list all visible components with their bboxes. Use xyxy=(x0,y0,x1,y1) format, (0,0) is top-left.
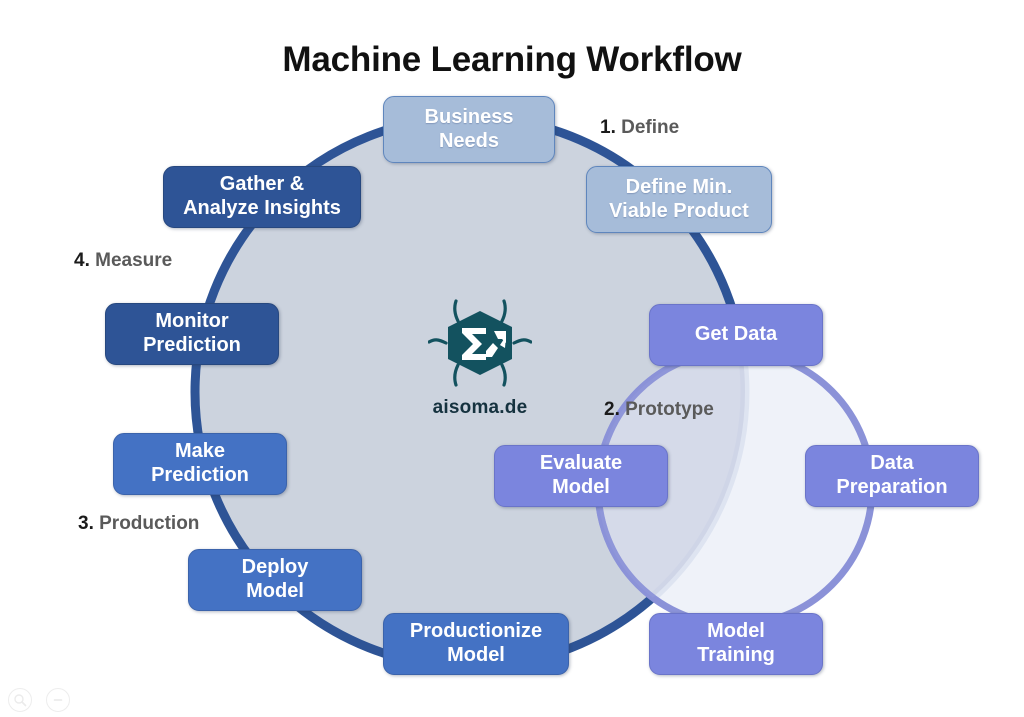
node-data-preparation[interactable]: Data Preparation xyxy=(805,445,979,507)
node-get-data[interactable]: Get Data xyxy=(649,304,823,366)
node-label: Model Training xyxy=(697,620,775,667)
node-monitor-prediction[interactable]: Monitor Prediction xyxy=(105,303,279,365)
stage-number: 4. xyxy=(74,250,90,271)
node-label: Evaluate Model xyxy=(540,452,622,499)
aisoma-logo: aisoma.de xyxy=(420,295,540,425)
node-label: Make Prediction xyxy=(151,440,249,487)
zoom-in-icon[interactable] xyxy=(8,688,32,712)
node-define-mvp[interactable]: Define Min. Viable Product xyxy=(586,166,772,233)
node-deploy-model[interactable]: Deploy Model xyxy=(188,549,362,611)
corner-tools xyxy=(8,688,70,712)
node-label: Gather & Analyze Insights xyxy=(183,173,341,220)
stage-name: Define xyxy=(616,117,679,138)
node-label: Monitor Prediction xyxy=(143,310,241,357)
stage-number: 3. xyxy=(78,513,94,534)
stage-number: 2. xyxy=(604,399,620,420)
stage-label-production: 3. Production xyxy=(78,513,199,535)
page-title: Machine Learning Workflow xyxy=(0,40,1024,80)
zoom-out-icon[interactable] xyxy=(46,688,70,712)
node-label: Business Needs xyxy=(425,106,514,153)
sigma-arrow-hexagon-icon xyxy=(428,295,532,391)
stage-name: Production xyxy=(94,513,200,534)
node-make-prediction[interactable]: Make Prediction xyxy=(113,433,287,495)
stage-number: 1. xyxy=(600,117,616,138)
diagram-canvas: Machine Learning Workflow aisoma.de 1. D… xyxy=(0,0,1024,717)
stage-name: Measure xyxy=(90,250,172,271)
node-productionize-model[interactable]: Productionize Model xyxy=(383,613,569,675)
stage-name: Prototype xyxy=(620,399,714,420)
stage-label-prototype: 2. Prototype xyxy=(604,399,714,421)
node-label: Deploy Model xyxy=(242,556,309,603)
node-business-needs[interactable]: Business Needs xyxy=(383,96,555,163)
node-label: Get Data xyxy=(695,323,777,347)
node-label: Productionize Model xyxy=(410,620,542,667)
node-evaluate-model[interactable]: Evaluate Model xyxy=(494,445,668,507)
node-model-training[interactable]: Model Training xyxy=(649,613,823,675)
logo-caption: aisoma.de xyxy=(433,397,528,419)
stage-label-measure: 4. Measure xyxy=(74,250,172,272)
node-label: Define Min. Viable Product xyxy=(609,176,749,223)
stage-label-define: 1. Define xyxy=(600,117,679,139)
node-label: Data Preparation xyxy=(836,452,947,499)
node-gather-analyze[interactable]: Gather & Analyze Insights xyxy=(163,166,361,228)
